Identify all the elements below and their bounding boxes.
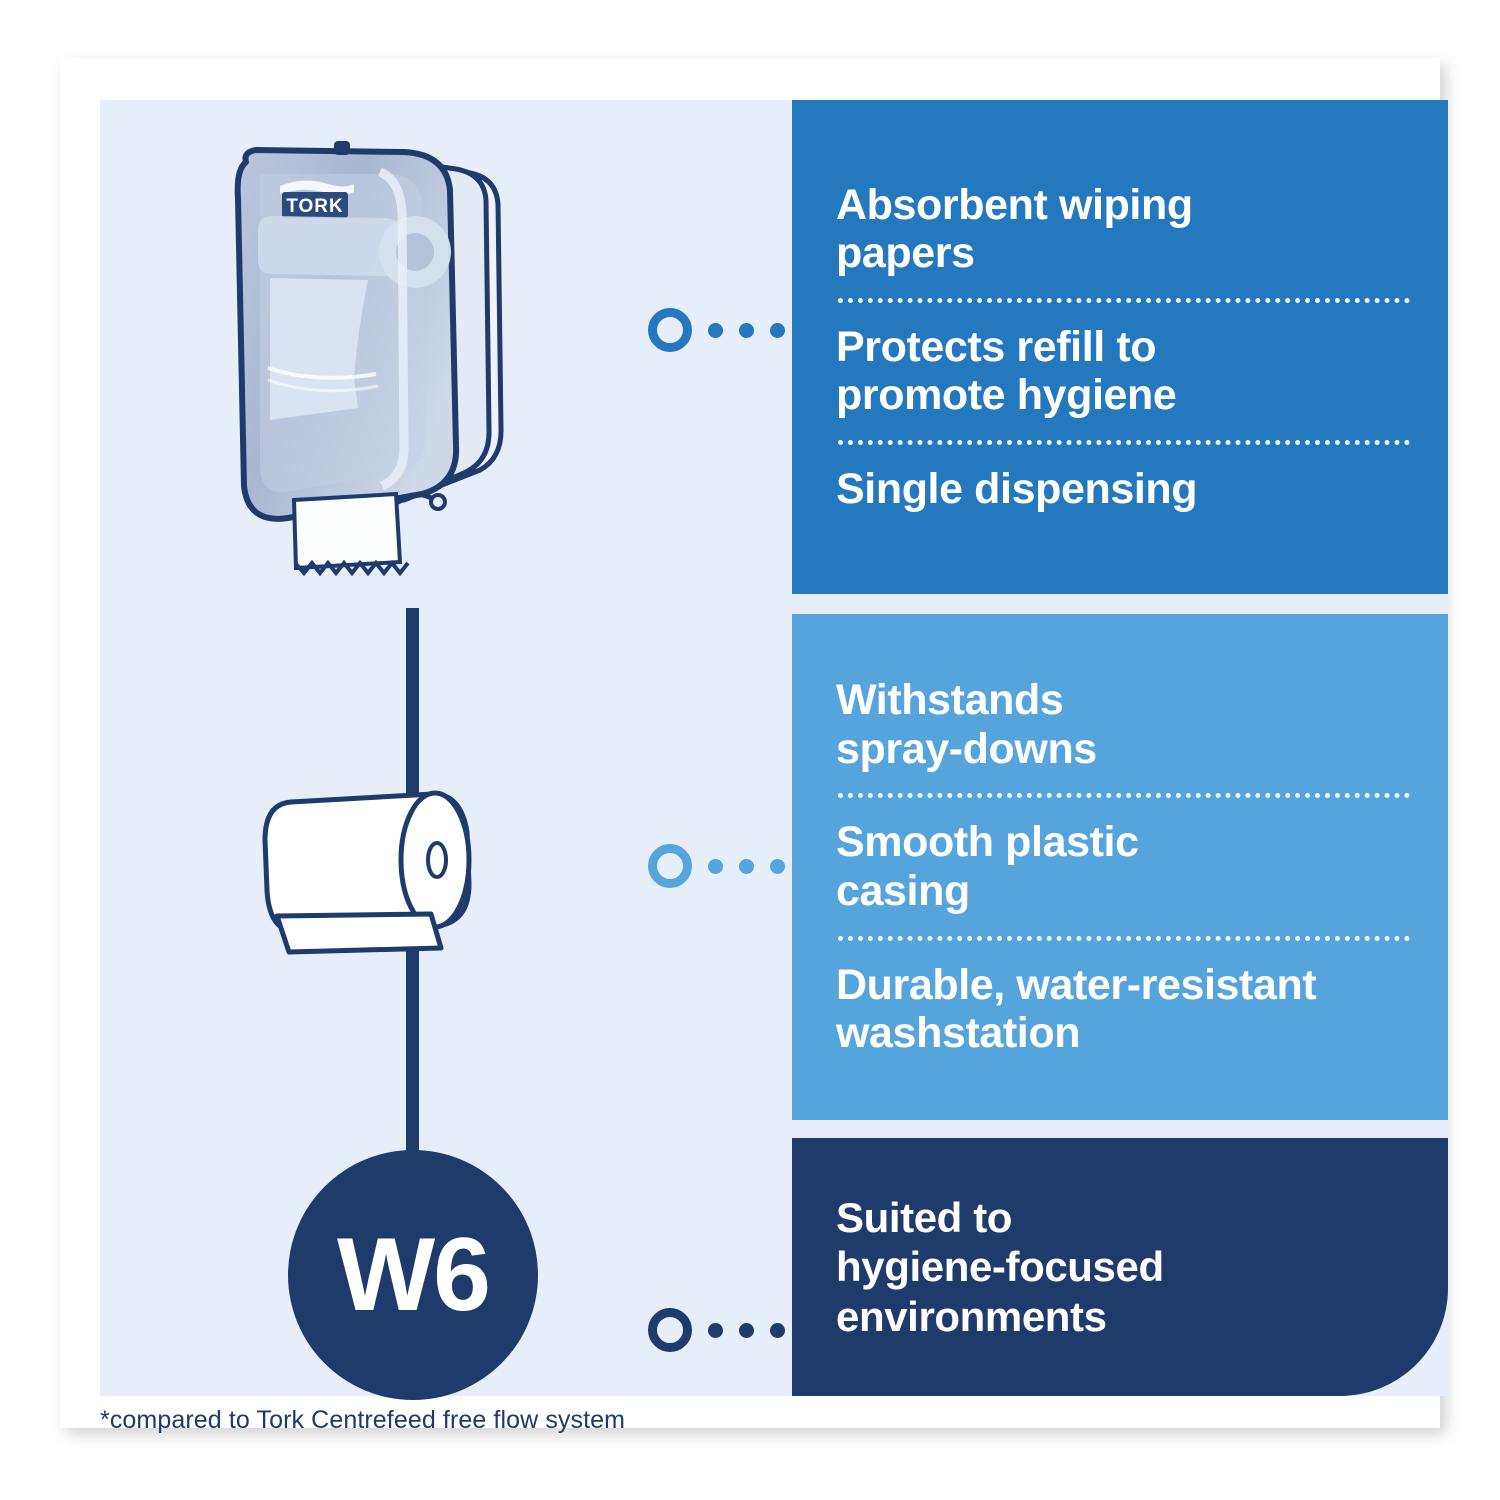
feature-text: Absorbent wiping papers (836, 181, 1414, 278)
dotted-divider (838, 298, 1410, 303)
connector-spine-lower (406, 920, 419, 1180)
ring-icon (648, 308, 692, 352)
tork-dispenser-illustration: TORK (208, 128, 538, 598)
feature-text: Suited to hygiene-focused environments (836, 1193, 1414, 1342)
dot-icon (739, 1323, 754, 1338)
dot-icon (708, 323, 723, 338)
dot-icon (770, 859, 785, 874)
feature-panel-durability: Withstands spray-downs Smooth plastic ca… (792, 614, 1448, 1120)
connector-ring-dots-1 (648, 308, 816, 352)
ring-icon (648, 844, 692, 888)
dotted-divider (838, 936, 1410, 941)
dotted-divider (838, 793, 1410, 798)
dot-icon (770, 1323, 785, 1338)
illustration-stage: TORK (100, 100, 1448, 1396)
dot-icon (739, 859, 754, 874)
feature-text: Protects refill to promote hygiene (836, 323, 1414, 420)
dot-icon (739, 323, 754, 338)
feature-text: Single dispensing (836, 465, 1414, 514)
product-infographic-card: TORK (60, 58, 1440, 1428)
paper-roll-illustration (255, 772, 505, 957)
footnote-text: *compared to Tork Centrefeed free flow s… (100, 1406, 625, 1435)
dot-icon (708, 859, 723, 874)
feature-text: Durable, water-resistant washstation (836, 961, 1414, 1058)
dotted-divider (838, 440, 1410, 445)
w6-category-badge: W6 (288, 1150, 538, 1400)
feature-text: Smooth plastic casing (836, 818, 1414, 915)
dot-icon (770, 323, 785, 338)
svg-text:TORK: TORK (286, 196, 343, 217)
ring-icon (648, 1308, 692, 1352)
feature-panel-hygiene: Suited to hygiene-focused environments (792, 1138, 1448, 1396)
dot-icon (708, 1323, 723, 1338)
connector-ring-dots-3 (648, 1308, 816, 1352)
feature-text: Withstands spray-downs (836, 676, 1414, 773)
feature-panel-absorbent: Absorbent wiping papers Protects refill … (792, 100, 1448, 594)
w6-badge-label: W6 (337, 1223, 489, 1327)
connector-ring-dots-2 (648, 844, 816, 888)
